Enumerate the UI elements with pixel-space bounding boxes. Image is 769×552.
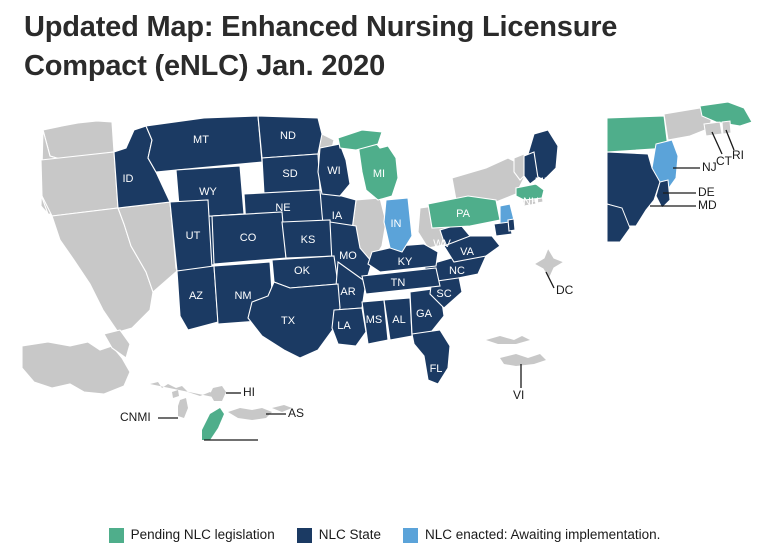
state-label-AL: AL [392,314,405,326]
territory-HI-blob[interactable] [210,386,226,401]
territory-GU-shape[interactable] [202,408,224,440]
territory-AS-shape[interactable] [228,408,272,420]
map-legend: Pending NLC legislation NLC State NLC en… [0,518,769,552]
state-label-MT: MT [193,134,209,146]
legend-label-awaiting: NLC enacted: Awaiting implementation. [425,528,660,542]
cnmi-label: CNMI [120,410,151,424]
state-label-MO: MO [339,250,357,262]
state-label-CO: CO [240,232,257,244]
state-label-SC: SC [436,288,451,300]
us-map-svg[interactable]: MT ND ID SD WY NE IA WI MI UT CO KS MO I… [0,96,769,500]
state-label-ND: ND [280,130,296,142]
state-label-WV: WV [433,238,451,250]
legend-label-member: NLC State [319,528,381,542]
state-label-ME: ME [535,176,552,188]
state-FL[interactable] [412,330,450,384]
legend-swatch-pending [109,528,124,543]
state-label-TN: TN [391,277,406,289]
state-label-KS: KS [301,234,316,246]
map-state-shapes [22,116,558,394]
inset-label-DE: DE [698,185,715,199]
state-label-MS: MS [366,314,383,326]
state-label-NH: NH [523,196,539,208]
northeast-inset[interactable]: NJ DE MD CT RI [607,102,752,242]
state-label-LA: LA [337,320,351,332]
inset-label-CT: CT [716,154,733,168]
state-label-AR: AR [340,286,355,298]
state-label-PA: PA [456,208,471,220]
dc-marker-group[interactable]: DC [534,248,574,297]
state-label-NC: NC [449,265,465,277]
territory-HI-shape[interactable] [150,382,218,398]
map-container: MT ND ID SD WY NE IA WI MI UT CO KS MO I… [0,96,769,500]
state-label-NM: NM [234,290,251,302]
state-label-OK: OK [294,265,311,277]
inset-label-RI: RI [732,148,744,162]
legend-swatch-awaiting [403,528,418,543]
state-label-IN: IN [391,218,402,230]
dc-label: DC [556,283,574,297]
legend-swatch-member [297,528,312,543]
state-label-TX: TX [281,315,296,327]
page-title: Updated Map: Enhanced Nursing Licensure … [24,8,724,85]
territory-CNMI-shape[interactable] [178,398,188,418]
legend-label-pending: Pending NLC legislation [131,528,275,542]
state-label-WY: WY [199,186,217,198]
territories-group: HI AS CNMI VI [120,336,546,440]
state-OR2[interactable] [41,152,118,216]
inset-label-NJ: NJ [702,160,717,174]
state-label-WI: WI [327,165,340,177]
state-label-GA: GA [416,308,433,320]
state-label-MA: MA [526,210,540,220]
state-label-UT: UT [186,230,201,242]
state-label-FL: FL [430,363,443,375]
legend-item-awaiting[interactable]: NLC enacted: Awaiting implementation. [403,528,660,543]
state-label-SD: SD [282,168,297,180]
territory-VI-shape[interactable] [500,354,546,366]
state-label-NE: NE [275,202,290,214]
state-DE-main[interactable] [508,219,515,231]
state-label-MI: MI [373,168,385,180]
as-label: AS [288,406,304,420]
legend-item-pending[interactable]: Pending NLC legislation [109,528,275,543]
legend-item-member[interactable]: NLC State [297,528,381,543]
state-label-IA: IA [332,210,343,222]
dc-diamond-icon [534,248,564,279]
hi-label: HI [243,385,255,399]
state-label-VA: VA [460,246,475,258]
state-label-KY: KY [398,256,413,268]
state-label-ID: ID [123,173,134,185]
state-label-AZ: AZ [189,290,203,302]
vi-label: VI [513,388,524,402]
territory-CNMI-dot1[interactable] [172,390,179,398]
territory-VI-dots[interactable] [486,336,530,344]
inset-ct-leader [712,132,722,154]
inset-label-MD: MD [698,198,717,212]
